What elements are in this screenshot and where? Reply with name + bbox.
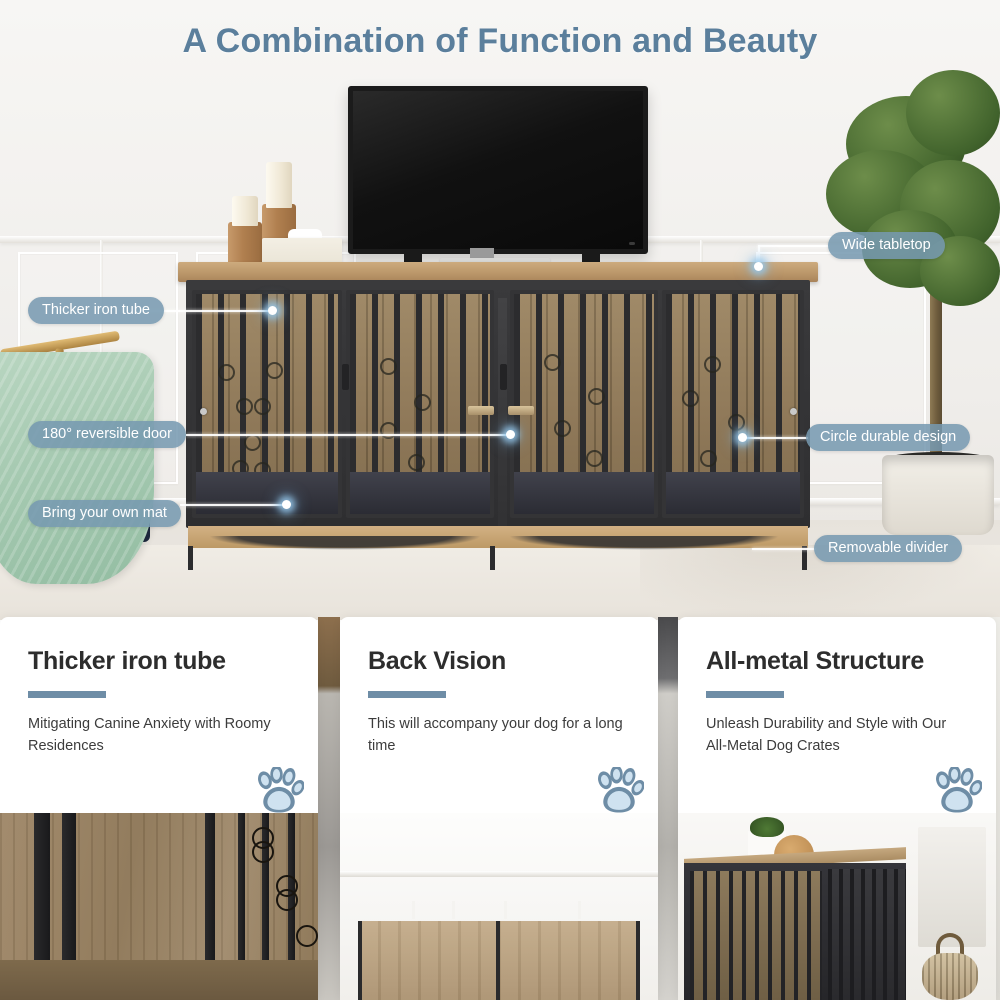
circle-accent [218,364,235,381]
circle-accent [414,394,431,411]
basket-lamp [922,953,978,1000]
background-strip [318,617,340,1000]
television [348,86,648,254]
circle-accent [276,889,298,911]
feature-card-back-vision[interactable]: Back Vision This will accompany your dog… [340,617,658,1000]
crate-mat [666,472,800,514]
callout-circle-durable-design[interactable]: Circle durable design [806,424,970,451]
frame-screw [200,408,207,415]
door-latch [468,406,494,415]
leader-line-reversible-door [186,434,510,436]
crate-mat [196,472,338,514]
crate-leg [188,546,193,570]
plinth-arch [508,536,780,550]
crate-mat [350,472,490,514]
hotspot-thicker-iron-tube[interactable] [268,306,277,315]
door-hinge [500,364,507,390]
center-post [496,921,500,1000]
feature-card-all-metal-structure[interactable]: All-metal Structure Unleash Durability a… [678,617,996,1000]
leader-line-bring-your-own-mat [180,504,286,506]
circle-accent [244,434,261,451]
paw-print-icon [594,767,644,815]
circle-accent [700,450,717,467]
side-post [358,921,362,1000]
candle [266,162,292,208]
circle-accent [266,362,283,379]
infographic-page: A Combination of Function and Beauty [0,0,1000,1000]
crate-mat [514,472,654,514]
leader-line-circle-durable-design [742,437,808,439]
feature-cards-section: Thicker iron tube Mitigating Canine Anxi… [0,617,1000,1000]
circle-accent [588,388,605,405]
crate-left-panel [192,290,342,518]
circle-accent [252,841,274,863]
hero-section: A Combination of Function and Beauty [0,0,1000,620]
callout-thicker-iron-tube[interactable]: Thicker iron tube [28,297,164,324]
removable-divider-part [498,298,507,546]
planter-pot [882,455,994,535]
door-latch [508,406,534,415]
circle-accent [544,354,561,371]
card-title: Back Vision [368,647,506,676]
circle-accent [728,414,745,431]
circle-accent [254,398,271,415]
page-title: A Combination of Function and Beauty [0,22,1000,61]
circle-accent [408,454,425,471]
leader-line-wide-tabletop [758,245,830,247]
card-accent-rule [368,691,446,698]
card-title: All-metal Structure [706,647,924,676]
callout-removable-divider[interactable]: Removable divider [814,535,962,562]
callout-reversible-door[interactable]: 180° reversible door [28,421,186,448]
tv-power-led [629,242,635,245]
succulent-plant [750,817,784,837]
door-hinge [342,364,349,390]
background-strip [658,617,678,1000]
hotspot-wide-tabletop[interactable] [754,262,763,271]
card-title: Thicker iron tube [28,647,226,676]
hotspot-circle-durable-design[interactable] [738,433,747,442]
circle-accent [296,925,318,947]
side-post [636,921,640,1000]
circle-accent [554,420,571,437]
circle-accent [682,390,699,407]
crate-tabletop [178,262,818,282]
hotspot-bring-your-own-mat[interactable] [282,500,291,509]
card-description: Mitigating Canine Anxiety with Roomy Res… [28,713,290,758]
crate-front-bars [690,871,822,1000]
plant-foliage [906,70,1000,156]
card-description: This will accompany your dog for a long … [368,713,630,758]
card-image-angled-crate [678,813,996,1000]
frame-screw [790,408,797,415]
crate-right-door [510,290,658,518]
crate-leg [490,546,495,570]
throw-blanket [0,352,154,584]
white-door [918,827,986,947]
circle-accent [380,358,397,375]
crate-right-panel [662,290,804,518]
circle-accent [704,356,721,373]
circle-accent [236,398,253,415]
callout-bring-your-own-mat[interactable]: Bring your own mat [28,500,181,527]
card-accent-rule [706,691,784,698]
card-accent-rule [28,691,106,698]
card-image-crate-back [340,813,658,1000]
wall-molding [340,871,658,877]
feature-card-thicker-iron-tube[interactable]: Thicker iron tube Mitigating Canine Anxi… [0,617,318,1000]
callout-wide-tabletop[interactable]: Wide tabletop [828,232,945,259]
card-image-wood-interior [0,813,318,1000]
crate-side-bars [828,869,906,1000]
candle [232,196,258,226]
circle-accent [380,422,397,439]
crate-frame [186,280,810,528]
crate-left-door [346,290,494,518]
circle-accent [586,450,603,467]
leader-line-removable-divider [752,548,816,550]
paw-print-icon [932,767,982,815]
plinth-arch [208,536,482,550]
hotspot-reversible-door[interactable] [506,430,515,439]
interior-floor [0,960,318,1000]
tv-screen [353,91,643,249]
card-description: Unleash Durability and Style with Our Al… [706,713,968,758]
paw-print-icon [254,767,304,815]
